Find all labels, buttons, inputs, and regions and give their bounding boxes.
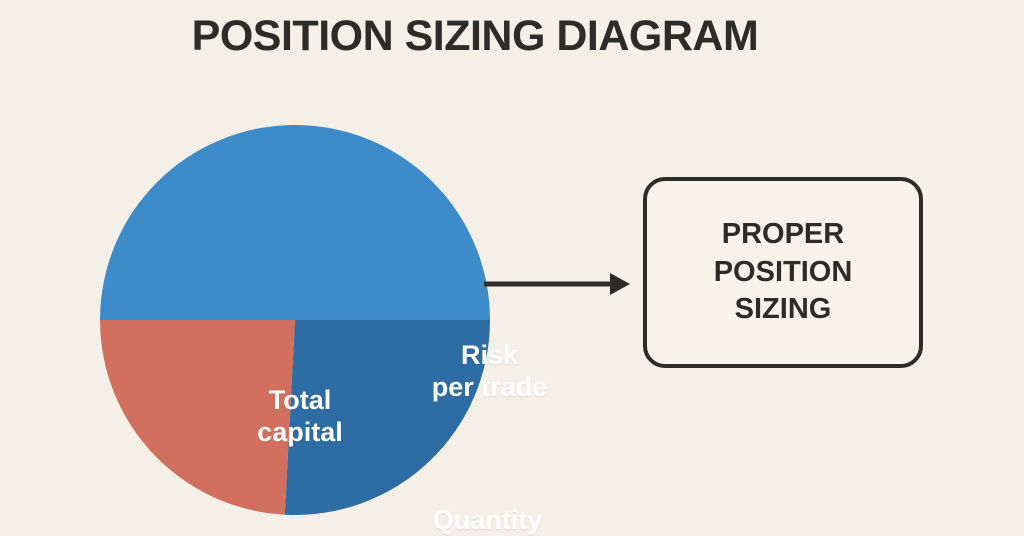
outcome-box[interactable]: PROPER POSITION SIZING xyxy=(643,177,923,368)
pie-label-risk-per-trade: Risk per trade xyxy=(397,340,582,403)
diagram-canvas: POSITION SIZING DIAGRAM Total capital Ri… xyxy=(0,0,1024,536)
pie-chart: Total capital Risk per trade Quantity pe… xyxy=(100,125,490,536)
pie-label-total-capital-line1: Total xyxy=(205,385,395,417)
pie-label-total-capital-line2: capital xyxy=(205,417,395,449)
pie-label-quantity-per-trade: Quantity per trade xyxy=(395,505,580,536)
outcome-line-1: PROPER xyxy=(722,216,844,254)
pie-label-quantity-line1: Quantity xyxy=(395,505,580,536)
outcome-line-2: POSITION xyxy=(714,254,853,292)
pie-label-risk-line2: per trade xyxy=(397,372,582,404)
outcome-line-3: SIZING xyxy=(735,291,832,329)
arrow-head xyxy=(610,273,630,295)
pie-label-risk-line1: Risk xyxy=(397,340,582,372)
page-title: POSITION SIZING DIAGRAM xyxy=(0,12,950,61)
arrow-right-icon xyxy=(480,265,632,305)
pie-chart-svg xyxy=(100,125,490,536)
pie-slice-total-capital[interactable] xyxy=(100,125,490,320)
pie-label-total-capital: Total capital xyxy=(205,385,395,448)
